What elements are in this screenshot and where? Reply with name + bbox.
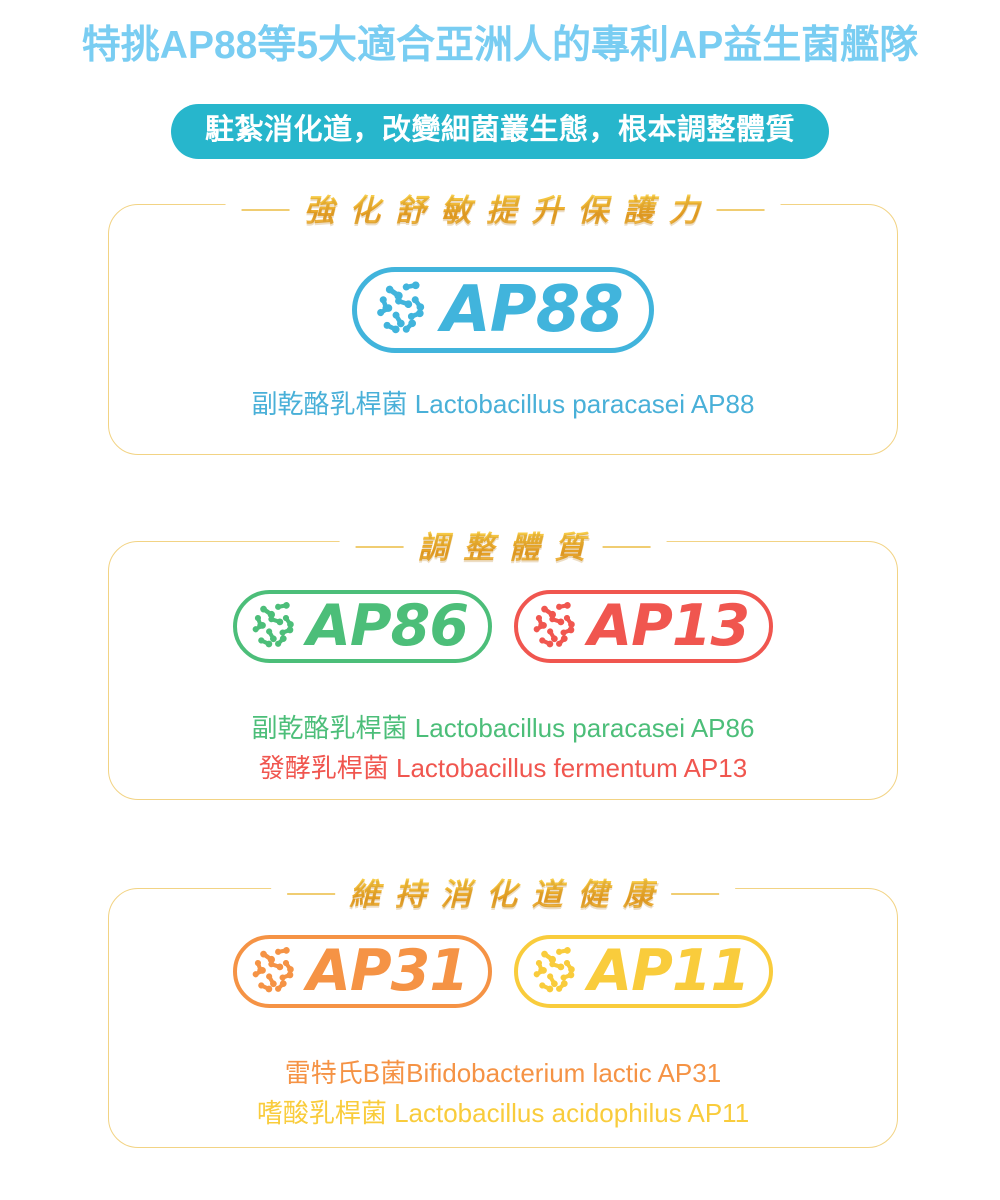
strain-code: AP13 bbox=[588, 598, 749, 655]
strain-badge-ap13[interactable]: AP13 bbox=[514, 590, 773, 663]
species-line-1: 雷特氏B菌Bifidobacterium lactic AP31 bbox=[109, 1053, 897, 1090]
title-rule-right bbox=[602, 546, 650, 548]
strain-badge-ap31[interactable]: AP31 bbox=[233, 935, 492, 1008]
subtitle-banner: 駐紮消化道，改變細菌叢生態，根本調整體質 bbox=[0, 104, 1000, 159]
title-rule-right bbox=[671, 893, 719, 895]
title-rule-left bbox=[356, 546, 404, 548]
strain-code: AP86 bbox=[307, 598, 468, 655]
card-title-3: 維 持 消 化 道 健 康 bbox=[271, 867, 735, 920]
bacteria-cluster-icon bbox=[530, 599, 586, 655]
species-line-2: 發酵乳桿菌 Lactobacillus fermentum AP13 bbox=[109, 748, 897, 785]
probiotics-infographic: 特挑AP88等5大適合亞洲人的專利AP益生菌艦隊 駐紮消化道，改變細菌叢生態，根… bbox=[0, 0, 1000, 1200]
title-rule-left bbox=[287, 893, 335, 895]
strain-badge-ap88[interactable]: AP88 bbox=[352, 267, 654, 353]
card-title-1: 強 化 舒 敏 提 升 保 護 力 bbox=[226, 183, 781, 236]
title-rule-left bbox=[242, 209, 290, 211]
badge-row-1: AP88 bbox=[109, 267, 897, 353]
bacteria-cluster-icon bbox=[373, 278, 437, 342]
strain-code: AP88 bbox=[441, 278, 623, 342]
bacteria-cluster-icon bbox=[249, 944, 305, 1000]
card-title-text: 調 整 體 質 bbox=[418, 520, 589, 573]
species-line-1: 副乾酪乳桿菌 Lactobacillus paracasei AP88 bbox=[109, 384, 897, 421]
title-rule-right bbox=[716, 209, 764, 211]
badge-row-3: AP31 AP bbox=[109, 935, 897, 1008]
badge-row-2: AP86 AP bbox=[109, 590, 897, 663]
card-title-text: 維 持 消 化 道 健 康 bbox=[349, 867, 657, 920]
strain-card-ap88: 強 化 舒 敏 提 升 保 護 力 bbox=[108, 204, 898, 455]
strain-code: AP11 bbox=[588, 943, 749, 1000]
page-title: 特挑AP88等5大適合亞洲人的專利AP益生菌艦隊 bbox=[0, 14, 1000, 70]
bacteria-cluster-icon bbox=[249, 599, 305, 655]
strain-card-ap86-ap13: 調 整 體 質 bbox=[108, 541, 898, 800]
strain-code: AP31 bbox=[307, 943, 468, 1000]
strain-badge-ap11[interactable]: AP11 bbox=[514, 935, 773, 1008]
strain-badge-ap86[interactable]: AP86 bbox=[233, 590, 492, 663]
species-line-1: 副乾酪乳桿菌 Lactobacillus paracasei AP86 bbox=[109, 708, 897, 745]
card-title-2: 調 整 體 質 bbox=[340, 520, 667, 573]
species-line-2: 嗜酸乳桿菌 Lactobacillus acidophilus AP11 bbox=[109, 1093, 897, 1130]
subtitle-pill: 駐紮消化道，改變細菌叢生態，根本調整體質 bbox=[171, 104, 829, 159]
card-title-text: 強 化 舒 敏 提 升 保 護 力 bbox=[304, 183, 703, 236]
strain-card-ap31-ap11: 維 持 消 化 道 健 康 bbox=[108, 888, 898, 1148]
bacteria-cluster-icon bbox=[530, 944, 586, 1000]
